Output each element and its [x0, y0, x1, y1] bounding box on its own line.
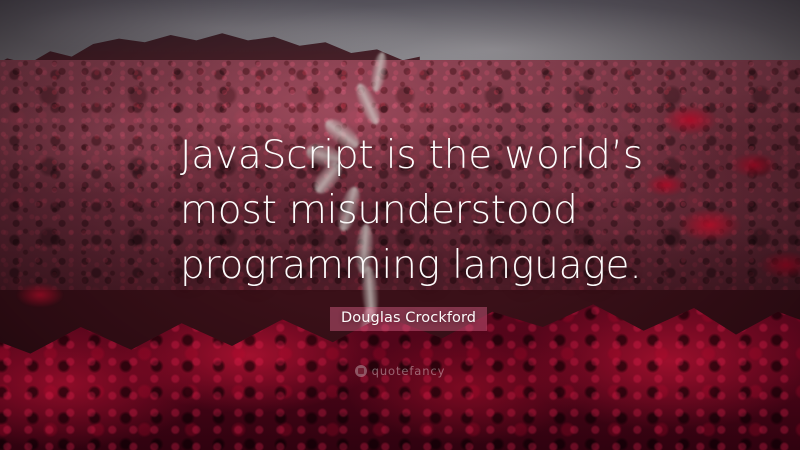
author-attribution: Douglas Crockford: [330, 307, 487, 331]
quote-line-2: most misunderstood: [180, 183, 650, 238]
quote-overlay: JavaScript is the world’s most misunders…: [0, 0, 800, 450]
quotefancy-badge-icon: [355, 365, 367, 377]
author-name: Douglas Crockford: [330, 307, 487, 331]
quote-text: JavaScript is the world’s most misunders…: [180, 128, 650, 293]
watermark: quotefancy: [0, 364, 800, 378]
quote-wallpaper: JavaScript is the world’s most misunders…: [0, 0, 800, 450]
quote-line-1: JavaScript is the world’s: [180, 128, 650, 183]
quote-line-3: programming language.: [180, 238, 650, 293]
watermark-brand: quotefancy: [372, 364, 446, 378]
